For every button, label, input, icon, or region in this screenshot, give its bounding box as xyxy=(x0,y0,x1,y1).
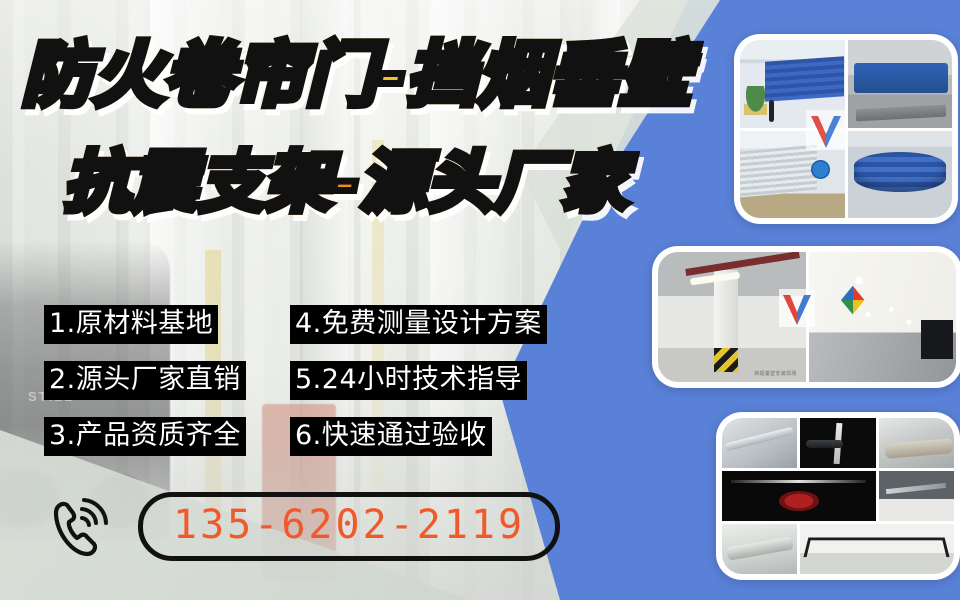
photo-dual-pipe-seismic-brace xyxy=(800,418,875,468)
feature-list: 1.原材料基地 4.免费测量设计方案 2.源头厂家直销 5.24小时技术指导 3… xyxy=(44,296,550,464)
photo-fan-seismic-bracing xyxy=(722,471,876,521)
photo-frame-seismic-system xyxy=(800,524,954,574)
photo-grid-inner xyxy=(740,40,952,218)
headline-secondary-text: 抗震支架-源头厂家 xyxy=(64,144,628,221)
photo-ceiling-lamp xyxy=(690,272,741,285)
photo-blue-rolling-fire-shutter-hall xyxy=(740,40,845,128)
seismic-bracket-photo-collage[interactable] xyxy=(716,412,960,580)
fire-shutter-photo-grid[interactable] xyxy=(734,34,958,224)
advertisement-banner: STILL 防火卷帘门-挡烟垂壁 抗震支架-源头厂家 1.原材料基地 4.免费测… xyxy=(0,0,960,600)
photo-duct-clamp-support xyxy=(879,418,954,468)
photo-ceiling-duct-brace xyxy=(879,471,954,521)
photo-underground-parking-garage: 挡烟垂壁安装现场 xyxy=(658,252,806,382)
headline-primary: 防火卷帘门-挡烟垂壁 xyxy=(22,36,691,114)
feature-item-3: 3.产品资质齐全 xyxy=(44,417,246,456)
photo-red-pipe xyxy=(685,252,800,275)
photo-pair-inner: 挡烟垂壁安装现场 xyxy=(658,252,956,382)
contact-row: 135-6202-2119 xyxy=(46,492,560,561)
feature-item-1: 1.原材料基地 xyxy=(44,305,218,344)
headline-primary-text: 防火卷帘门-挡烟垂壁 xyxy=(22,34,691,116)
feature-item-2: 2.源头厂家直销 xyxy=(44,361,246,400)
photo-shutter-roll-forming-machine xyxy=(848,40,953,128)
photo-ceiling-smoke-barrier-install xyxy=(809,252,957,382)
photo-plant-decor xyxy=(744,86,767,116)
photo-pipe-hanger-bracket xyxy=(722,418,797,468)
photo-wall-sign xyxy=(811,160,830,179)
photo-colorful-decor xyxy=(841,286,865,315)
feature-item-4: 4.免费测量设计方案 xyxy=(290,305,547,344)
phone-number[interactable]: 135-6202-2119 xyxy=(173,502,525,548)
photo-blue-shutter-drum-roll xyxy=(848,131,953,219)
photo-dark-screen xyxy=(921,320,953,359)
smoke-barrier-photo-pair[interactable]: 挡烟垂壁安装现场 xyxy=(652,246,960,388)
feature-item-5: 5.24小时技术指导 xyxy=(290,361,527,400)
photo-steel-fire-shutter-interior xyxy=(740,131,845,219)
photo-person-silhouette xyxy=(769,100,774,123)
phone-ringing-icon xyxy=(46,493,114,561)
photo-caption: 挡烟垂壁安装现场 xyxy=(754,370,796,377)
phone-number-pill[interactable]: 135-6202-2119 xyxy=(138,492,560,561)
photo-cable-tray-support xyxy=(722,524,797,574)
feature-item-6: 6.快速通过验收 xyxy=(290,417,492,456)
headline-secondary: 抗震支架-源头厂家 xyxy=(64,146,628,220)
photo-collage-inner xyxy=(722,418,954,574)
